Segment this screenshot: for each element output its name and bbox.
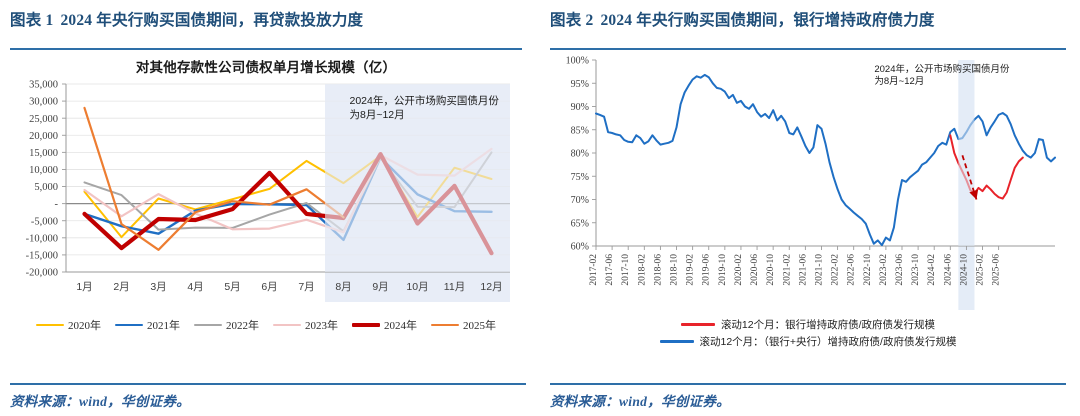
legend-label: 2020年 <box>68 317 101 333</box>
svg-text:2017-02: 2017-02 <box>589 254 599 286</box>
chart-1-legend: 2020年2021年2022年2023年2024年2025年 <box>10 317 522 333</box>
legend-label: 2024年 <box>384 317 417 333</box>
svg-text:90%: 90% <box>571 102 589 113</box>
svg-text:60%: 60% <box>571 242 589 253</box>
legend-label: 2022年 <box>226 317 259 333</box>
svg-text:9月: 9月 <box>372 281 388 293</box>
chart-2-svg: 100%95%90%85%80%75%70%65%60%2017-022017-… <box>550 50 1066 315</box>
svg-text:2018-10: 2018-10 <box>670 254 680 286</box>
svg-text:11月: 11月 <box>444 281 465 293</box>
figure-2-heading: 图表 22024 年央行购买国债期间，银行增持政府债力度 <box>550 0 1066 46</box>
legend-swatch-2020年 <box>36 324 64 326</box>
svg-text:10月: 10月 <box>406 281 428 293</box>
svg-text:15,000: 15,000 <box>29 148 58 159</box>
svg-text:2022-06: 2022-06 <box>847 254 857 286</box>
legend-swatch-2022年 <box>194 324 222 326</box>
legend-swatch-bank-plus-pboc <box>660 340 694 343</box>
svg-text:2021-02: 2021-02 <box>782 254 792 286</box>
legend-item-2020年[interactable]: 2020年 <box>36 317 101 333</box>
figure-2-source-block: 资料来源：wind，华创证券。 <box>550 383 1066 410</box>
svg-text:2023-02: 2023-02 <box>879 254 889 286</box>
legend-label: 滚动12个月：（银行+央行）增持政府债/政府债发行规模 <box>700 334 957 349</box>
legend-swatch-2025年 <box>431 324 459 326</box>
svg-text:5,000: 5,000 <box>34 182 58 193</box>
svg-text:65%: 65% <box>571 218 589 229</box>
svg-text:35,000: 35,000 <box>29 80 58 91</box>
figure-1-source: 资料来源：wind，华创证券。 <box>10 390 526 410</box>
figure-2-source: 资料来源：wind，华创证券。 <box>550 390 1066 410</box>
chart-1-plot: 35,00030,00025,00020,00015,00010,0005,00… <box>10 76 522 316</box>
svg-text:10,000: 10,000 <box>29 165 58 176</box>
figure-2-source-rule <box>550 383 1066 385</box>
svg-text:7月: 7月 <box>298 281 314 293</box>
svg-text:8月: 8月 <box>335 281 351 293</box>
svg-text:-20,000: -20,000 <box>26 268 58 279</box>
svg-text:-: - <box>55 199 59 210</box>
svg-text:2020-10: 2020-10 <box>766 254 776 286</box>
svg-text:2022-10: 2022-10 <box>863 254 873 286</box>
svg-text:2019-10: 2019-10 <box>718 254 728 286</box>
legend-label: 滚动12个月：银行增持政府债/政府债发行规模 <box>721 317 935 332</box>
svg-text:2017-10: 2017-10 <box>621 254 631 286</box>
svg-text:-5,000: -5,000 <box>31 216 58 227</box>
svg-text:2021-10: 2021-10 <box>815 254 825 286</box>
svg-text:85%: 85% <box>571 125 589 136</box>
svg-text:2021-06: 2021-06 <box>798 254 808 286</box>
svg-text:2017-06: 2017-06 <box>605 254 615 286</box>
legend-item-2023年[interactable]: 2023年 <box>273 317 338 333</box>
svg-text:4月: 4月 <box>187 281 203 293</box>
svg-text:-10,000: -10,000 <box>26 233 58 244</box>
chart-1-svg: 35,00030,00025,00020,00015,00010,0005,00… <box>10 76 522 316</box>
legend-label: 2025年 <box>463 317 496 333</box>
svg-text:2025-06: 2025-06 <box>992 254 1002 286</box>
legend-item-bank[interactable]: 滚动12个月：银行增持政府债/政府债发行规模 <box>681 317 935 332</box>
svg-text:2024-06: 2024-06 <box>943 254 953 286</box>
figure-1-heading: 图表 12024 年央行购买国债期间，再贷款投放力度 <box>10 0 522 46</box>
legend-swatch-2023年 <box>273 324 301 326</box>
svg-text:2022-02: 2022-02 <box>831 254 841 286</box>
svg-text:20,000: 20,000 <box>29 131 58 142</box>
svg-text:75%: 75% <box>571 172 589 183</box>
svg-text:100%: 100% <box>566 56 589 67</box>
legend-label: 2023年 <box>305 317 338 333</box>
svg-text:80%: 80% <box>571 149 589 160</box>
figure-2-panel: 图表 22024 年央行购买国债期间，银行增持政府债力度 100%95%90%8… <box>540 0 1080 416</box>
svg-text:30,000: 30,000 <box>29 97 58 108</box>
svg-text:2023-10: 2023-10 <box>911 254 921 286</box>
svg-text:6月: 6月 <box>261 281 277 293</box>
figure-1-title-rule <box>10 48 522 50</box>
svg-text:2023-06: 2023-06 <box>895 254 905 286</box>
svg-text:2024年，公开市场购买国债月份: 2024年，公开市场购买国债月份 <box>350 94 500 107</box>
legend-item-2022年[interactable]: 2022年 <box>194 317 259 333</box>
svg-text:12月: 12月 <box>480 281 502 293</box>
svg-text:2025-02: 2025-02 <box>976 254 986 286</box>
svg-text:3月: 3月 <box>150 281 166 293</box>
svg-text:70%: 70% <box>571 195 589 206</box>
chart-2-legend: 滚动12个月：银行增持政府债/政府债发行规模滚动12个月：（银行+央行）增持政府… <box>550 317 1066 349</box>
legend-swatch-2021年 <box>115 324 143 326</box>
series-blue <box>596 75 1055 245</box>
legend-swatch-2024年 <box>352 323 380 327</box>
svg-text:5月: 5月 <box>224 281 240 293</box>
figure-1-title-text: 2024 年央行购买国债期间，再贷款投放力度 <box>60 12 363 29</box>
legend-label: 2021年 <box>147 317 180 333</box>
figure-1-source-block: 资料来源：wind，华创证券。 <box>10 383 526 410</box>
chart-2-plot: 100%95%90%85%80%75%70%65%60%2017-022017-… <box>550 50 1066 315</box>
svg-text:2018-06: 2018-06 <box>653 254 663 286</box>
svg-text:1月: 1月 <box>76 281 92 293</box>
figure-2-label: 图表 2 <box>550 12 593 29</box>
svg-text:为8月~12月: 为8月~12月 <box>874 75 924 87</box>
figure-1-panel: 图表 12024 年央行购买国债期间，再贷款投放力度 对其他存款性公司债权单月增… <box>0 0 540 416</box>
figure-1-label: 图表 1 <box>10 12 53 29</box>
svg-text:2024-02: 2024-02 <box>927 254 937 286</box>
svg-text:2020-02: 2020-02 <box>734 254 744 286</box>
svg-text:2018-02: 2018-02 <box>637 254 647 286</box>
report-page: 图表 12024 年央行购买国债期间，再贷款投放力度 对其他存款性公司债权单月增… <box>0 0 1080 416</box>
svg-text:2024年，公开市场购买国债月份: 2024年，公开市场购买国债月份 <box>874 63 1010 75</box>
legend-item-bank-plus-pboc[interactable]: 滚动12个月：（银行+央行）增持政府债/政府债发行规模 <box>660 334 957 349</box>
svg-text:2019-06: 2019-06 <box>702 254 712 286</box>
svg-text:为8月~12月: 为8月~12月 <box>350 109 405 121</box>
legend-item-2025年[interactable]: 2025年 <box>431 317 496 333</box>
svg-text:95%: 95% <box>571 79 589 90</box>
chart-1-title: 对其他存款性公司债权单月增长规模（亿） <box>10 56 522 76</box>
svg-text:2020-06: 2020-06 <box>750 254 760 286</box>
legend-swatch-bank <box>681 323 715 326</box>
svg-text:2月: 2月 <box>113 281 129 293</box>
svg-text:2024-10: 2024-10 <box>959 254 969 286</box>
svg-text:-15,000: -15,000 <box>26 251 58 262</box>
legend-item-2021年[interactable]: 2021年 <box>115 317 180 333</box>
svg-text:2019-02: 2019-02 <box>686 254 696 286</box>
figure-2-title-text: 2024 年央行购买国债期间，银行增持政府债力度 <box>600 12 934 29</box>
legend-item-2024年[interactable]: 2024年 <box>352 317 417 333</box>
figure-1-source-rule <box>10 383 526 385</box>
svg-text:25,000: 25,000 <box>29 114 58 125</box>
